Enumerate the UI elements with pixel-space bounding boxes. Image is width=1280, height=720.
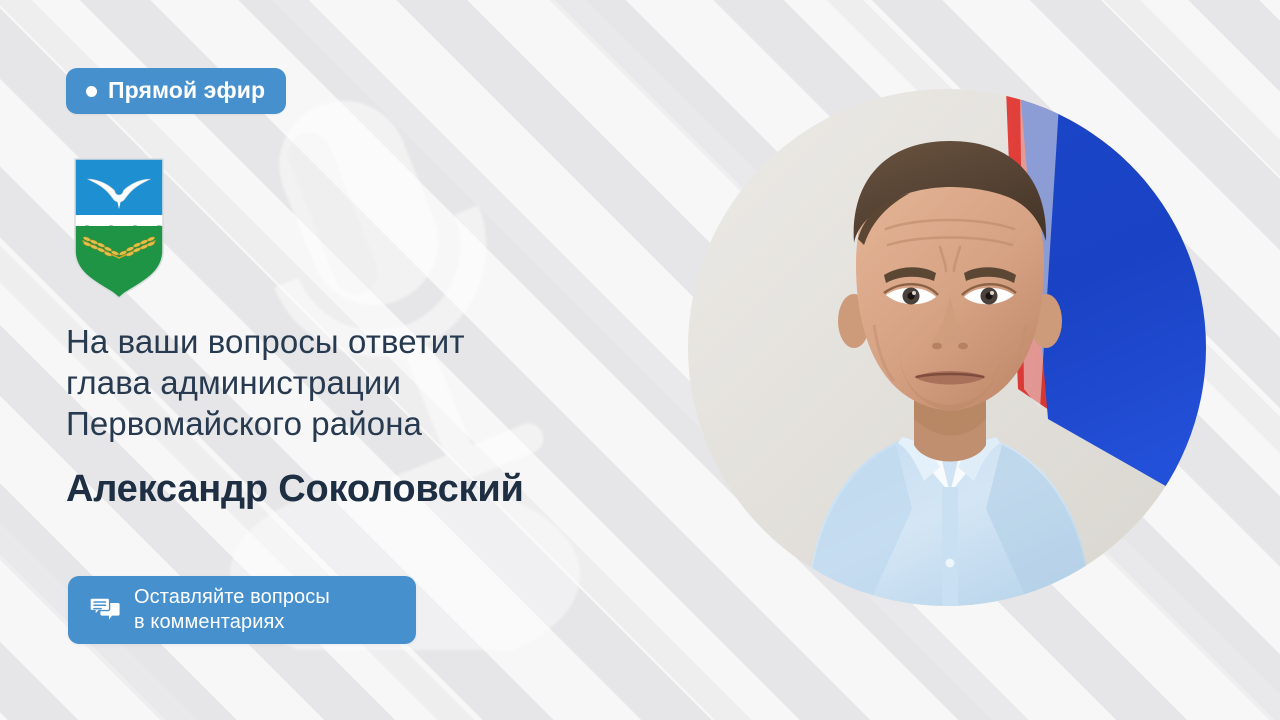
live-badge-label: Прямой эфир (108, 79, 265, 104)
coat-of-arms-emblem (69, 155, 169, 305)
comments-cta-text: Оставляйте вопросы в комментариях (134, 585, 330, 635)
headline-line-2: глава администрации (66, 362, 636, 403)
live-badge[interactable]: Прямой эфир (66, 68, 286, 114)
portrait-illustration (688, 89, 1206, 606)
left-content-column: Прямой эфир (66, 0, 666, 720)
headline: На ваши вопросы ответит глава администра… (66, 321, 636, 444)
headline-line-1: На ваши вопросы ответит (66, 321, 636, 362)
comments-icon (90, 596, 120, 624)
headline-line-3: Первомайского района (66, 403, 636, 444)
comments-cta-line-2: в комментариях (134, 610, 330, 635)
person-name: Александр Соколовский (66, 466, 686, 512)
live-dot-icon (86, 86, 97, 97)
comments-cta-button[interactable]: Оставляйте вопросы в комментариях (68, 576, 416, 644)
portrait-photo (688, 89, 1206, 606)
comments-cta-line-1: Оставляйте вопросы (134, 585, 330, 610)
